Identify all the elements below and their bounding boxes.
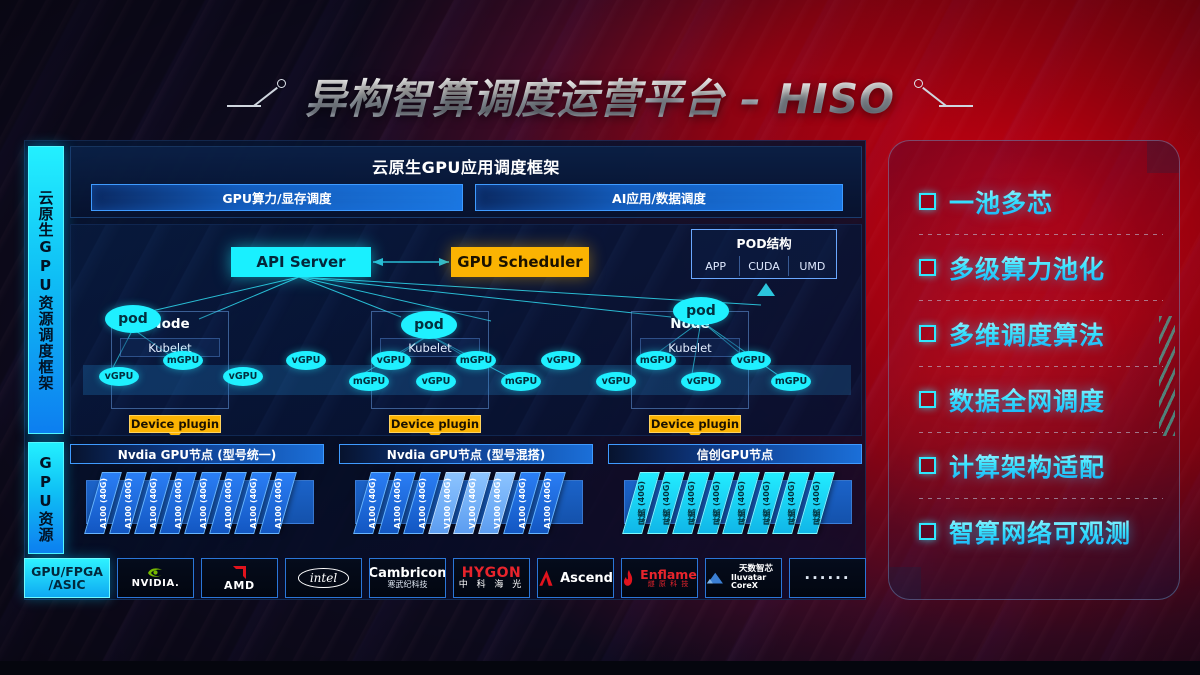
gpu-ellipse-mgpu-1[interactable]: mGPU xyxy=(163,351,203,370)
feature-bullet-square-icon xyxy=(919,457,936,474)
feature-item-1[interactable]: 多级算力池化 xyxy=(919,235,1163,300)
sidebar-label-gpu-resource: GPU资源 xyxy=(28,442,64,554)
device-plugin-tail-1 xyxy=(429,433,441,436)
gpu-ellipse-vgpu-2[interactable]: vGPU xyxy=(223,367,263,386)
gpu-card-tray-1: A100 (40G)A100 (40G)A100 (40G)V100 (40G)… xyxy=(355,480,583,524)
vendor-category-line2: /ASIC xyxy=(48,578,85,591)
gpu-card-label: A100 (40G) xyxy=(543,478,552,529)
pod-structure-cell-app: APP xyxy=(692,256,739,276)
feature-highlights-panel: 一池多芯多级算力池化多维调度算法数据全网调度计算架构适配智算网络可观测 xyxy=(888,140,1180,600)
vendor-ascend[interactable]: Ascend xyxy=(537,558,614,598)
framework-band: 云原生GPU应用调度框架 GPU算力/显存调度 AI应用/数据调度 xyxy=(70,146,862,218)
gpu-node-bar-0[interactable]: Nvdia GPU节点 (型号统一) xyxy=(70,444,324,464)
vendor-hygon-name: HYGON xyxy=(462,566,521,581)
gpu-ellipse-mgpu-14[interactable]: mGPU xyxy=(771,372,811,391)
device-plugin-2[interactable]: Device plugin xyxy=(649,415,741,433)
gpu-card-label: A100 (40G) xyxy=(393,478,402,529)
pod-structure-cell-umd: UMD xyxy=(788,256,836,276)
framework-button-gpu-compute[interactable]: GPU算力/显存调度 xyxy=(91,184,463,211)
feature-panel-corner-bottom-left xyxy=(888,567,921,600)
vendor-iluvatar[interactable]: 天数智芯 Iluvatar CoreX xyxy=(705,558,782,598)
gpu-card-tray-2: 昇腾 (40G)昇腾 (40G)昇腾 (40G)昇腾 (40G)昇腾 (40G)… xyxy=(624,480,852,524)
gpu-ellipse-mgpu-6[interactable]: mGPU xyxy=(456,351,496,370)
feature-item-label: 数据全网调度 xyxy=(949,382,1105,418)
feature-bullet-square-icon xyxy=(919,391,936,408)
vendor-amd[interactable]: AMD xyxy=(201,558,278,598)
feature-bullet-square-icon xyxy=(919,193,936,210)
vendor-more[interactable]: ······ xyxy=(789,558,866,598)
title-bar: 异构智算调度运营平台 – HISO xyxy=(0,64,1200,126)
gpu-card-label: A100 (40G) xyxy=(274,478,283,529)
gpu-card-label: V100 (40G) xyxy=(493,478,502,529)
pod-ellipse-1[interactable]: pod xyxy=(401,311,457,339)
gpu-ellipse-vgpu-9[interactable]: vGPU xyxy=(541,351,581,370)
vendor-logo-row: GPU/FPGA /ASIC NVIDIA. AMD intel xyxy=(24,558,866,598)
gpu-card-label: A100 (40G) xyxy=(99,478,108,529)
vendor-enflame-name: Enflame xyxy=(640,568,697,581)
feature-item-5[interactable]: 智算网络可观测 xyxy=(919,499,1163,564)
device-plugin-0[interactable]: Device plugin xyxy=(129,415,221,433)
feature-bullet-square-icon xyxy=(919,523,936,540)
sidebar-label-framework-text: 云原生GPU资源调度框架 xyxy=(36,190,57,391)
device-plugin-tail-0 xyxy=(169,433,181,436)
gpu-ellipse-mgpu-4[interactable]: mGPU xyxy=(349,372,389,391)
gpu-card-label: 昇腾 (40G) xyxy=(786,481,797,525)
gpu-card-label: 昇腾 (40G) xyxy=(811,481,822,525)
gpu-card-label: A100 (40G) xyxy=(174,478,183,529)
device-plugin-1[interactable]: Device plugin xyxy=(389,415,481,433)
gpu-ellipse-vgpu-3[interactable]: vGPU xyxy=(286,351,326,370)
vendor-enflame[interactable]: Enflame 燧 原 科 技 xyxy=(621,558,698,598)
vendor-cambricon-name: Cambricon xyxy=(369,567,446,581)
framework-title: 云原生GPU应用调度框架 xyxy=(71,154,861,178)
feature-item-label: 多级算力池化 xyxy=(949,250,1105,286)
gpu-card-label: A100 (40G) xyxy=(418,478,427,529)
scheduling-diagram: API Server GPU Scheduler POD结构 APP CUDA … xyxy=(70,224,862,436)
feature-item-0[interactable]: 一池多芯 xyxy=(919,169,1163,234)
gpu-card-label: 昇腾 (40G) xyxy=(636,481,647,525)
gpu-node-bar-2[interactable]: 信创GPU节点 xyxy=(608,444,862,464)
gpu-ellipse-vgpu-0[interactable]: vGPU xyxy=(99,367,139,386)
title-left-decoration-icon xyxy=(227,76,289,114)
feature-list: 一池多芯多级算力池化多维调度算法数据全网调度计算架构适配智算网络可观测 xyxy=(919,169,1163,564)
pod-structure-box: POD结构 APP CUDA UMD xyxy=(691,229,837,279)
pod-ellipse-2[interactable]: pod xyxy=(673,297,729,325)
gpu-pool-strip xyxy=(83,365,851,395)
enflame-flame-icon xyxy=(622,570,635,587)
gpu-scheduler-box[interactable]: GPU Scheduler xyxy=(451,247,589,277)
vendor-intel-name: intel xyxy=(298,568,349,588)
gpu-card-label: A100 (40G) xyxy=(199,478,208,529)
title-right-decoration-icon xyxy=(911,76,973,114)
ascend-a-icon xyxy=(538,568,555,588)
gpu-card-label: A100 (40G) xyxy=(224,478,233,529)
feature-item-label: 多维调度算法 xyxy=(949,316,1105,352)
vendor-intel[interactable]: intel xyxy=(285,558,362,598)
vendor-ascend-name: Ascend xyxy=(560,571,613,586)
gpu-ellipse-mgpu-8[interactable]: mGPU xyxy=(501,372,541,391)
feature-item-3[interactable]: 数据全网调度 xyxy=(919,367,1163,432)
sidebar-label-gpu-resource-text: GPU资源 xyxy=(36,454,57,543)
gpu-card-label: V100 (40G) xyxy=(468,478,477,529)
feature-bullet-square-icon xyxy=(919,325,936,342)
api-server-box[interactable]: API Server xyxy=(231,247,371,277)
gpu-card-label: 昇腾 (40G) xyxy=(661,481,672,525)
gpu-card-label: A100 (40G) xyxy=(518,478,527,529)
feature-item-label: 智算网络可观测 xyxy=(949,514,1131,550)
gpu-card-label: 昇腾 (40G) xyxy=(686,481,697,525)
gpu-ellipse-mgpu-11[interactable]: mGPU xyxy=(636,351,676,370)
vendor-nvidia-name: NVIDIA. xyxy=(132,579,180,590)
feature-item-4[interactable]: 计算架构适配 xyxy=(919,433,1163,498)
vendor-enflame-sub: 燧 原 科 技 xyxy=(648,581,690,588)
vendor-hygon-sub: 中 科 海 光 xyxy=(459,581,525,590)
vendor-category-label: GPU/FPGA /ASIC xyxy=(24,558,110,598)
vendor-iluvatar-sub: Iluvatar CoreX xyxy=(731,574,781,591)
gpu-node-bar-1[interactable]: Nvdia GPU节点 (型号混搭) xyxy=(339,444,593,464)
pod-structure-title: POD结构 xyxy=(692,233,836,252)
gpu-card-label: A100 (40G) xyxy=(249,478,258,529)
pod-structure-cell-cuda: CUDA xyxy=(739,256,787,276)
gpu-card-label: 昇腾 (40G) xyxy=(711,481,722,525)
vendor-cambricon-sub: 寒武纪科技 xyxy=(388,581,428,589)
feature-bullet-square-icon xyxy=(919,259,936,276)
gpu-ellipse-vgpu-13[interactable]: vGPU xyxy=(731,351,771,370)
feature-item-2[interactable]: 多维调度算法 xyxy=(919,301,1163,366)
amd-arrow-icon xyxy=(231,564,249,580)
gpu-card-label: A100 (40G) xyxy=(368,478,377,529)
gpu-card-label: V100 (40G) xyxy=(443,478,452,529)
slide-canvas: 异构智算调度运营平台 – HISO 云原生GPU资源调度框架 GPU资源 云原生… xyxy=(0,0,1200,675)
gpu-card-label: A100 (40G) xyxy=(149,478,158,529)
vendor-amd-name: AMD xyxy=(224,580,255,592)
gpu-ellipse-vgpu-5[interactable]: vGPU xyxy=(371,351,411,370)
vendor-nvidia[interactable]: NVIDIA. xyxy=(117,558,194,598)
sidebar-label-framework: 云原生GPU资源调度框架 xyxy=(28,146,64,434)
feature-item-label: 计算架构适配 xyxy=(949,448,1105,484)
gpu-card-label: 昇腾 (40G) xyxy=(736,481,747,525)
vendor-cambricon[interactable]: Cambricon 寒武纪科技 xyxy=(369,558,446,598)
vendor-more-dots: ······ xyxy=(804,569,850,587)
gpu-card-label: 昇腾 (40G) xyxy=(761,481,772,525)
framework-button-ai-app[interactable]: AI应用/数据调度 xyxy=(475,184,843,211)
pod-structure-connector-icon xyxy=(757,283,775,296)
gpu-resource-row: Nvdia GPU节点 (型号统一) Nvdia GPU节点 (型号混搭) 信创… xyxy=(70,444,862,552)
device-plugin-tail-2 xyxy=(689,433,701,436)
vendor-hygon[interactable]: HYGON 中 科 海 光 xyxy=(453,558,530,598)
pod-ellipse-0[interactable]: pod xyxy=(105,305,161,333)
gpu-ellipse-vgpu-10[interactable]: vGPU xyxy=(596,372,636,391)
bottom-bar xyxy=(0,661,1200,675)
gpu-card-tray-0: A100 (40G)A100 (40G)A100 (40G)A100 (40G)… xyxy=(86,480,314,524)
page-title: 异构智算调度运营平台 – HISO xyxy=(305,65,895,125)
gpu-ellipse-vgpu-12[interactable]: vGPU xyxy=(681,372,721,391)
gpu-card-label: A100 (40G) xyxy=(124,478,133,529)
iluvatar-mountain-icon xyxy=(706,570,726,587)
gpu-ellipse-vgpu-7[interactable]: vGPU xyxy=(416,372,456,391)
feature-item-label: 一池多芯 xyxy=(949,184,1053,220)
